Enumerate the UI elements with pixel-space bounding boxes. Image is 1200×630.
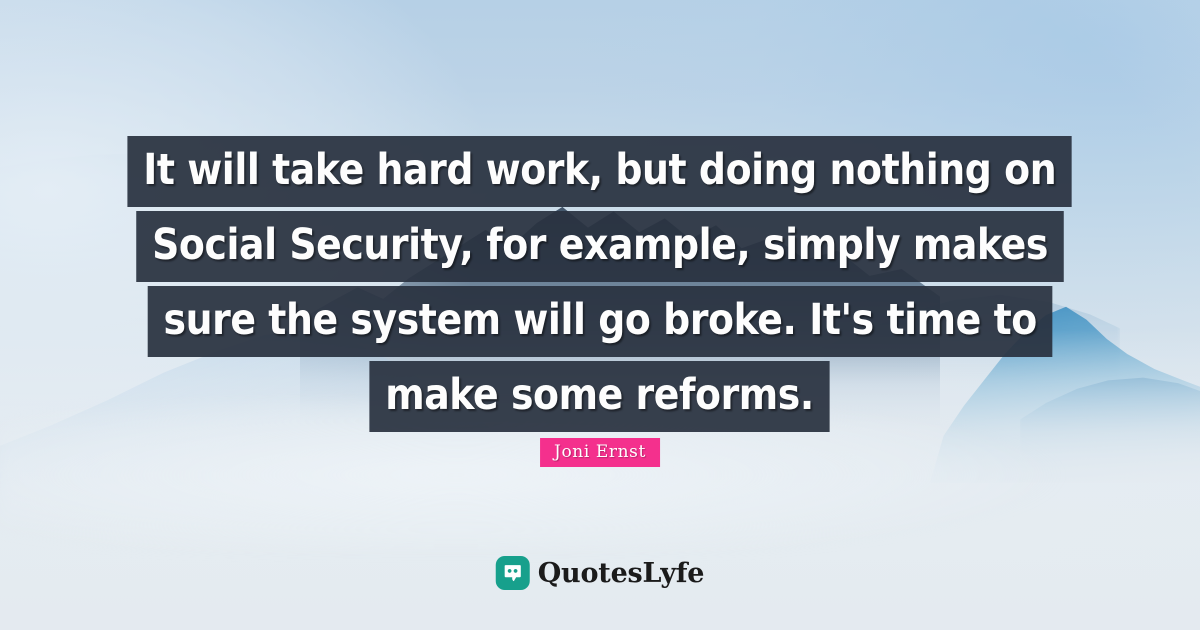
brand-logo-lockup[interactable]: QuotesLyfe [496,556,705,590]
quote-card: It will take hard work, but doing nothin… [0,0,1200,630]
brand-wordmark: QuotesLyfe [538,560,705,587]
quote-line-4: make some reforms. [370,361,830,432]
author-badge[interactable]: Joni Ernst [540,438,660,467]
quote-line-2: Social Security, for example, simply mak… [136,211,1064,282]
quote-line-3: sure the system will go broke. It's time… [148,286,1053,357]
quote-line-1: It will take hard work, but doing nothin… [128,136,1073,207]
quote-text-block: It will take hard work, but doing nothin… [0,136,1200,436]
quote-bubble-icon [496,556,530,590]
